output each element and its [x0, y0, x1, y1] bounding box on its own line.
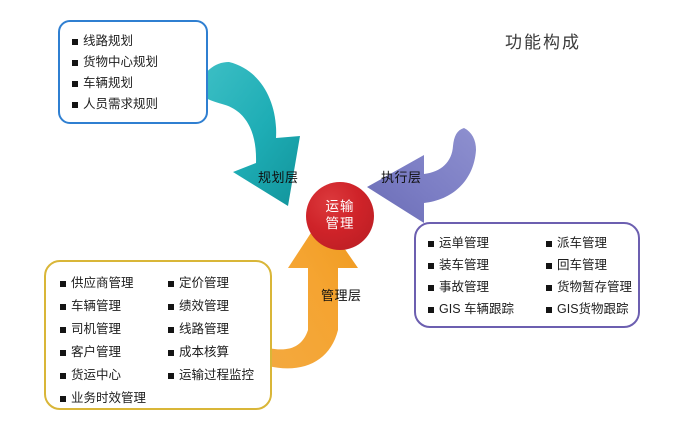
list-item: 成本核算: [168, 341, 254, 364]
list-item-label: 供应商管理: [71, 277, 134, 290]
hub-label-line2: 管理: [326, 216, 355, 233]
list-item: 客户管理: [60, 341, 160, 364]
management-column-2: 定价管理 绩效管理 线路管理 成本核算 运输过程监控: [168, 272, 254, 410]
planning-item-list: 线路规划 货物中心规划 车辆规划 人员需求规则: [60, 22, 206, 115]
square-bullet-icon: [168, 350, 174, 356]
management-layer-box: 供应商管理 车辆管理 司机管理 客户管理 货运中心: [44, 260, 272, 410]
list-item-label: 回车管理: [557, 259, 607, 272]
list-item-label: 货物暂存管理: [557, 281, 632, 294]
center-hub-transport-management: 运输 管理: [306, 182, 374, 250]
square-bullet-icon: [428, 285, 434, 291]
list-item: 货物中心规划: [72, 52, 206, 73]
square-bullet-icon: [546, 263, 552, 269]
execution-layer-box: 运单管理 装车管理 事故管理 GIS 车辆跟踪 派车管理: [414, 222, 640, 328]
list-item: GIS 车辆跟踪: [428, 299, 534, 321]
list-item-label: 人员需求规则: [83, 98, 158, 111]
list-item-label: 客户管理: [71, 346, 121, 359]
list-item: 人员需求规则: [72, 94, 206, 115]
list-item: 线路规划: [72, 31, 206, 52]
list-item: 运输过程监控: [168, 364, 254, 387]
list-item: 司机管理: [60, 318, 160, 341]
list-item-label: GIS 车辆跟踪: [439, 303, 514, 316]
square-bullet-icon: [60, 373, 66, 379]
arrow-label-planning: 规划层: [258, 167, 299, 186]
list-item: 运单管理: [428, 233, 534, 255]
execution-column-1: 运单管理 装车管理 事故管理 GIS 车辆跟踪: [428, 233, 534, 321]
list-item: 绩效管理: [168, 295, 254, 318]
list-item: 事故管理: [428, 277, 534, 299]
list-item: 车辆管理: [60, 295, 160, 318]
list-item: 装车管理: [428, 255, 534, 277]
square-bullet-icon: [168, 373, 174, 379]
list-item-label: 运输过程监控: [179, 369, 254, 382]
list-item-label: 货运中心: [71, 369, 121, 382]
square-bullet-icon: [72, 39, 78, 45]
square-bullet-icon: [168, 304, 174, 310]
execution-column-2: 派车管理 回车管理 货物暂存管理 GIS货物跟踪: [546, 233, 632, 321]
list-item-label: 货物中心规划: [83, 56, 158, 69]
list-item-label: 车辆规划: [83, 77, 133, 90]
list-item: 车辆规划: [72, 73, 206, 94]
square-bullet-icon: [428, 307, 434, 313]
execution-item-columns: 运单管理 装车管理 事故管理 GIS 车辆跟踪 派车管理: [416, 224, 638, 321]
square-bullet-icon: [72, 102, 78, 108]
square-bullet-icon: [168, 281, 174, 287]
hub-label-line1: 运输: [326, 199, 355, 216]
list-item: 定价管理: [168, 272, 254, 295]
management-column-1: 供应商管理 车辆管理 司机管理 客户管理 货运中心: [60, 272, 160, 410]
square-bullet-icon: [428, 263, 434, 269]
list-item-label: 派车管理: [557, 237, 607, 250]
list-item-label: 绩效管理: [179, 300, 229, 313]
square-bullet-icon: [72, 81, 78, 87]
square-bullet-icon: [546, 241, 552, 247]
list-item-label: 定价管理: [179, 277, 229, 290]
square-bullet-icon: [72, 60, 78, 66]
square-bullet-icon: [60, 327, 66, 333]
diagram-canvas: 功能构成 运输 管理 规划层 执行层 管理层 线路规划 货物中心规划 车辆规划 …: [0, 0, 700, 440]
list-item-label: 线路管理: [179, 323, 229, 336]
list-item: 业务时效管理: [60, 387, 160, 410]
square-bullet-icon: [60, 396, 66, 402]
list-item: 货运中心: [60, 364, 160, 387]
arrow-label-management: 管理层: [321, 285, 362, 304]
list-item: 供应商管理: [60, 272, 160, 295]
list-item: 派车管理: [546, 233, 632, 255]
arrow-label-execution: 执行层: [381, 167, 422, 186]
page-title: 功能构成: [505, 28, 581, 53]
square-bullet-icon: [546, 307, 552, 313]
list-item-label: 司机管理: [71, 323, 121, 336]
list-item-label: 运单管理: [439, 237, 489, 250]
list-item-label: 线路规划: [83, 35, 133, 48]
square-bullet-icon: [428, 241, 434, 247]
list-item-label: 业务时效管理: [71, 392, 146, 405]
square-bullet-icon: [60, 281, 66, 287]
list-item: GIS货物跟踪: [546, 299, 632, 321]
management-item-columns: 供应商管理 车辆管理 司机管理 客户管理 货运中心: [46, 262, 270, 410]
list-item: 货物暂存管理: [546, 277, 632, 299]
list-item-label: 装车管理: [439, 259, 489, 272]
list-item-label: 车辆管理: [71, 300, 121, 313]
list-item-label: 成本核算: [179, 346, 229, 359]
square-bullet-icon: [60, 304, 66, 310]
list-item: 回车管理: [546, 255, 632, 277]
list-item-label: GIS货物跟踪: [557, 303, 629, 316]
square-bullet-icon: [60, 350, 66, 356]
list-item: 线路管理: [168, 318, 254, 341]
planning-layer-box: 线路规划 货物中心规划 车辆规划 人员需求规则: [58, 20, 208, 124]
square-bullet-icon: [168, 327, 174, 333]
list-item-label: 事故管理: [439, 281, 489, 294]
square-bullet-icon: [546, 285, 552, 291]
